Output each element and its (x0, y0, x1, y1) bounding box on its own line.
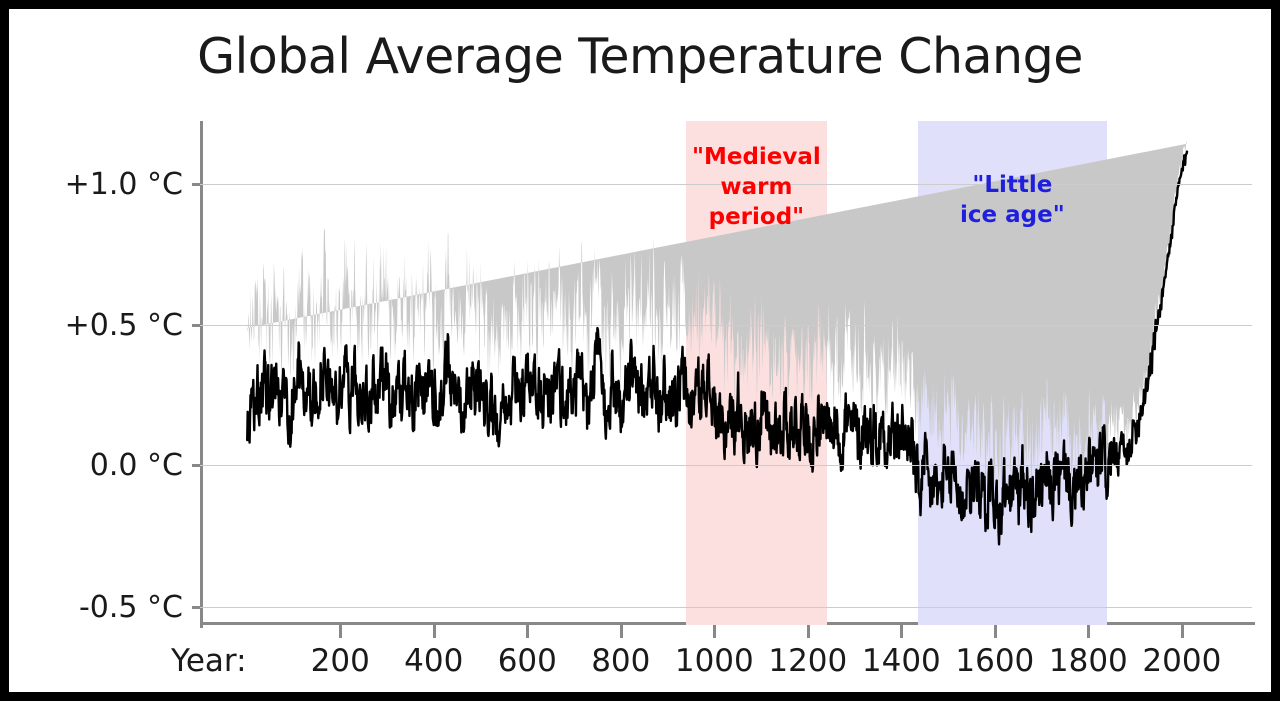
x-tick-mark-400 (433, 625, 436, 638)
page-title: Global Average Temperature Change (9, 31, 1271, 82)
x-tick-label-2000: 2000 (1142, 643, 1221, 679)
y-tick-label-0: 0.0 °C (90, 448, 183, 483)
x-tick-label-1200: 1200 (768, 643, 847, 679)
x-tick-label-400: 400 (404, 643, 463, 679)
chart-figure: Global Average Temperature Change +1.0 °… (0, 0, 1280, 701)
x-tick-mark-1000 (713, 625, 716, 638)
y-tick-label-neg0.5: -0.5 °C (79, 590, 183, 625)
x-tick-mark-600 (526, 625, 529, 638)
x-tick-mark-1400 (900, 625, 903, 638)
annotation-little-ice-age: "Little ice age" (918, 171, 1107, 231)
x-tick-label-800: 800 (591, 643, 650, 679)
x-tick-mark-200 (339, 625, 342, 638)
x-tick-label-600: 600 (498, 643, 557, 679)
x-tick-label-1000: 1000 (675, 643, 754, 679)
y-tick-label-1: +1.0 °C (65, 167, 183, 202)
y-tick-label-0.5: +0.5 °C (65, 308, 183, 343)
x-tick-label-1600: 1600 (955, 643, 1034, 679)
x-tick-label-1400: 1400 (862, 643, 941, 679)
x-tick-mark-1600 (994, 625, 997, 638)
x-tick-mark-1200 (807, 625, 810, 638)
x-tick-label-200: 200 (311, 643, 370, 679)
x-axis-title: Year: (171, 643, 247, 679)
x-tick-label-1800: 1800 (1049, 643, 1128, 679)
x-tick-mark-2000 (1181, 625, 1184, 638)
x-tick-mark-800 (620, 625, 623, 638)
annotation-medieval-warm-period: "Medieval warm period" (686, 143, 826, 233)
x-tick-mark-1800 (1087, 625, 1090, 638)
